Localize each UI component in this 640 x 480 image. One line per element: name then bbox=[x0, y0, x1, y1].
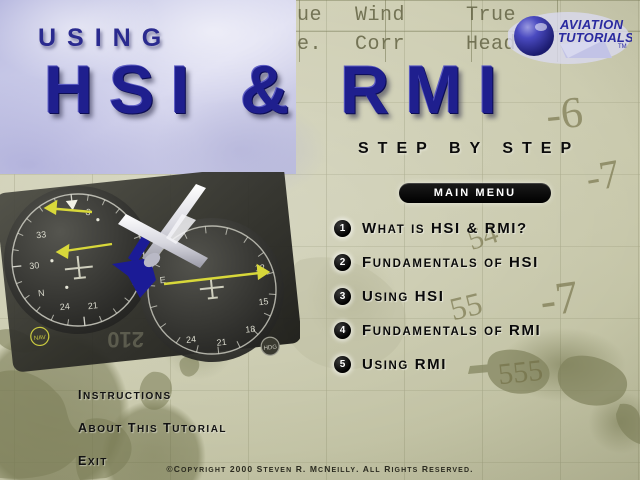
link-about-this-tutorial[interactable]: ABOUT THIS TUTORIAL bbox=[78, 421, 227, 435]
menu-item-2[interactable]: 2 FUNDAMENTALS OF HSI bbox=[334, 245, 640, 279]
menu-item-1-label: WHAT IS HSI & RMI? bbox=[362, 220, 528, 237]
menu-item-2-label: FUNDAMENTALS OF HSI bbox=[362, 254, 539, 271]
svg-text:21: 21 bbox=[216, 337, 227, 348]
main-menu-header-label: MAIN MENU bbox=[434, 187, 516, 199]
svg-text:N: N bbox=[37, 288, 45, 299]
menu-item-5[interactable]: 5 USING RMI bbox=[334, 347, 640, 381]
nav-knob-label: NAV bbox=[34, 335, 46, 342]
menu-item-3[interactable]: 3 USING HSI bbox=[334, 279, 640, 313]
main-menu-list: 1 WHAT IS HSI & RMI? 2 FUNDAMENTALS OF H… bbox=[334, 211, 640, 381]
menu-item-1-number: 1 bbox=[334, 220, 351, 237]
logo-trademark: TM bbox=[618, 44, 627, 50]
menu-item-2-number: 2 bbox=[334, 254, 351, 271]
svg-text:33: 33 bbox=[36, 229, 47, 240]
log-header-cell-2: Wind bbox=[355, 4, 405, 27]
menu-item-4-label: FUNDAMENTALS OF RMI bbox=[362, 322, 541, 339]
svg-text:24: 24 bbox=[186, 334, 197, 345]
svg-text:24: 24 bbox=[59, 301, 70, 312]
svg-text:15: 15 bbox=[258, 296, 269, 307]
page-title: HSI & RMI bbox=[44, 56, 513, 124]
menu-item-5-number: 5 bbox=[334, 356, 351, 373]
menu-item-4[interactable]: 4 FUNDAMENTALS OF RMI bbox=[334, 313, 640, 347]
menu-item-1[interactable]: 1 WHAT IS HSI & RMI? bbox=[334, 211, 640, 245]
aviation-tutorials-logo: AVIATION TUTORIALS TM bbox=[508, 8, 632, 64]
svg-text:21: 21 bbox=[87, 300, 98, 311]
menu-item-5-label: USING RMI bbox=[362, 356, 447, 373]
menu-item-3-number: 3 bbox=[334, 288, 351, 305]
artwork-digits-210: 210 bbox=[107, 327, 144, 352]
menu-item-3-label: USING HSI bbox=[362, 288, 445, 305]
link-instructions[interactable]: INSTRUCTIONS bbox=[78, 388, 227, 402]
main-menu-header-button[interactable]: MAIN MENU bbox=[399, 183, 551, 203]
handwriting-mark-1: -6 bbox=[543, 86, 585, 141]
page-title-kicker: USING bbox=[38, 24, 172, 53]
svg-text:30: 30 bbox=[29, 260, 40, 271]
tutorial-title-screen: ue Wind True e. Corr Head -6 -7 -7 54 55… bbox=[0, 0, 640, 480]
menu-item-4-number: 4 bbox=[334, 322, 351, 339]
svg-text:18: 18 bbox=[245, 324, 256, 335]
page-subtitle: STEP BY STEP bbox=[358, 140, 580, 158]
copyright-notice: ©COPYRIGHT 2000 STEVEN R. MCNEILLY. ALL … bbox=[0, 464, 640, 474]
hsi-rmi-illustration: 3 33 30 N 24 21 bbox=[0, 172, 300, 372]
logo-sphere-icon bbox=[514, 16, 554, 56]
log-header-cell-1: ue bbox=[297, 4, 322, 27]
logo-name-line2: TUTORIALS bbox=[558, 30, 632, 45]
